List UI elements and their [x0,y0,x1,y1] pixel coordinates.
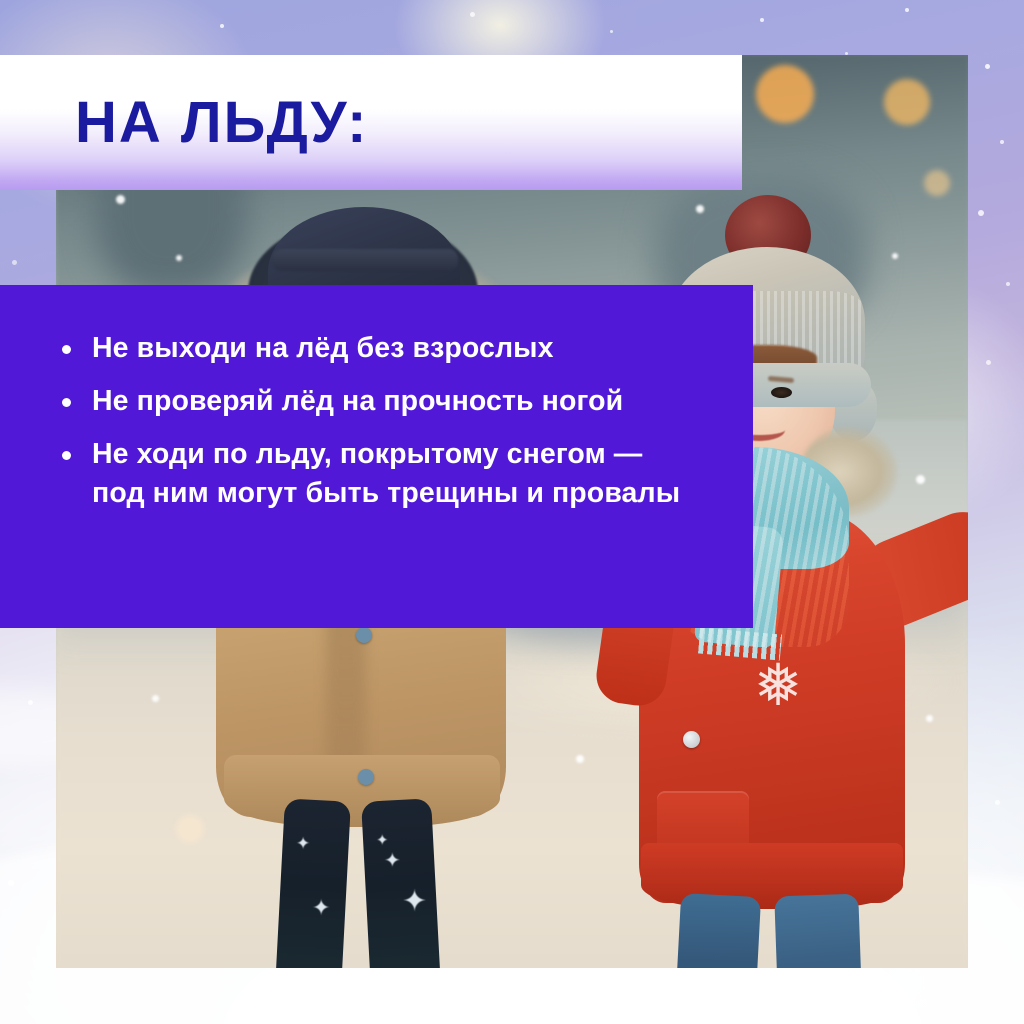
snow-flake [986,360,991,365]
photo-snowflake [576,755,584,763]
star-pattern: ✦ [312,897,330,919]
snow-flake [1006,282,1010,286]
bullet-icon [62,345,71,354]
eye-right [771,387,792,398]
star-pattern: ✦ [402,887,427,917]
list-item-label: Не проверяй лёд на прочность ногой [92,382,623,421]
snow-flake [220,24,224,28]
safety-rules-list: Не выходи на лёд без взрослых Не проверя… [62,329,695,513]
leg-left [275,798,351,968]
leg-right [361,798,441,968]
snow-flake [978,210,984,216]
snow-flake [985,64,990,69]
snow-flake [610,30,613,33]
jeans-left [673,893,761,968]
list-item: Не проверяй лёд на прочность ногой [62,382,695,421]
header-banner: НА ЛЬДУ: [0,55,742,190]
page-title: НА ЛЬДУ: [0,94,368,190]
list-item-label: Не ходи по льду, покрытому снегом — под … [92,435,692,513]
snow-flake [470,12,475,17]
coat-button [358,769,374,785]
list-item-label: Не выходи на лёд без взрослых [92,329,554,368]
snow-flake [760,18,764,22]
star-pattern: ✦ [384,851,401,871]
jeans-right [774,894,863,968]
snow-flake [905,8,909,12]
coat-button [356,627,372,643]
bokeh-light [924,170,950,196]
safety-rules-panel: Не выходи на лёд без взрослых Не проверя… [0,285,753,628]
coat-button [683,731,700,748]
bokeh-light [884,79,930,125]
photo-snowflake [116,195,125,204]
snow-flake [1000,140,1004,144]
bullet-icon [62,398,71,407]
coat-hem [641,843,903,909]
photo-snowflake [176,255,182,261]
list-item: Не ходи по льду, покрытому снегом — под … [62,435,695,513]
list-item: Не выходи на лёд без взрослых [62,329,695,368]
hat-band [272,249,458,271]
photo-snowflake [152,695,159,702]
snow-flake [995,800,1000,805]
star-pattern: ✦ [376,833,389,848]
star-pattern: ✦ [296,835,310,852]
bokeh-light [756,65,814,123]
bullet-icon [62,451,71,460]
coat-snowflake-emblem: ❅ [747,657,809,719]
bokeh-light [176,815,204,843]
snow-flake [12,260,17,265]
